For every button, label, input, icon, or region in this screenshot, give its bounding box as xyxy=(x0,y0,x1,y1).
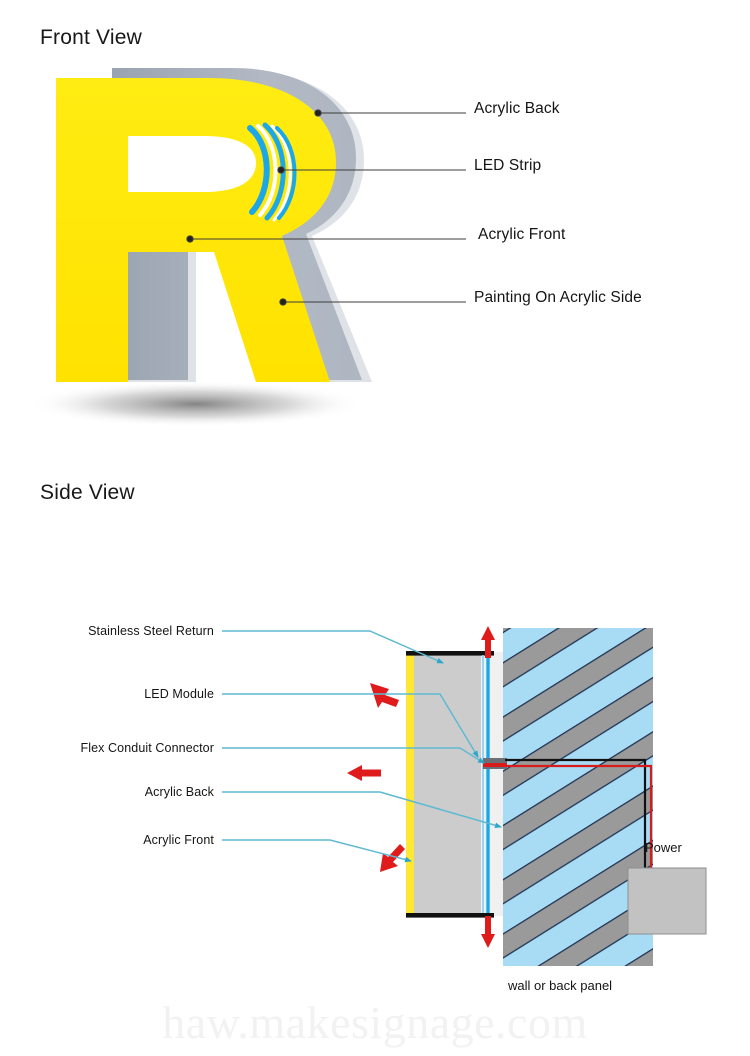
arrow-down-icon xyxy=(481,916,495,948)
front-view-group xyxy=(28,68,466,427)
arrow-left-icon xyxy=(347,765,381,781)
label-wall-or-back-panel: wall or back panel xyxy=(508,978,612,993)
letter-counter-hole xyxy=(128,136,256,192)
callout-painting-on-acrylic-side: Painting On Acrylic Side xyxy=(474,289,642,307)
callout-acrylic-back-side: Acrylic Back xyxy=(145,785,214,799)
front-view-title: Front View xyxy=(40,26,142,50)
callout-stainless-steel-return: Stainless Steel Return xyxy=(88,624,214,638)
site-watermark: haw.makesignage.com xyxy=(0,996,750,1049)
callout-acrylic-front: Acrylic Front xyxy=(478,226,565,244)
side-view-group xyxy=(222,626,706,966)
steel-return-bottom xyxy=(406,913,494,918)
arrow-left-tilt-icon xyxy=(370,683,399,708)
callout-acrylic-back: Acrylic Back xyxy=(474,100,560,118)
flex-conduit-gasket xyxy=(483,763,507,767)
letter-shadow xyxy=(28,381,364,427)
label-power: Power xyxy=(645,840,682,855)
power-box xyxy=(628,868,706,934)
side-view-title: Side View xyxy=(40,481,135,505)
callout-flex-conduit-connector: Flex Conduit Connector xyxy=(80,741,214,755)
diagram-page: Front View Acrylic Back LED Strip Acryli… xyxy=(0,0,750,1056)
callout-led-strip: LED Strip xyxy=(474,157,541,175)
acrylic-back-slab xyxy=(481,652,503,916)
callout-acrylic-front-side: Acrylic Front xyxy=(143,833,214,847)
callout-led-module: LED Module xyxy=(144,687,214,701)
diagram-canvas xyxy=(0,0,750,1056)
